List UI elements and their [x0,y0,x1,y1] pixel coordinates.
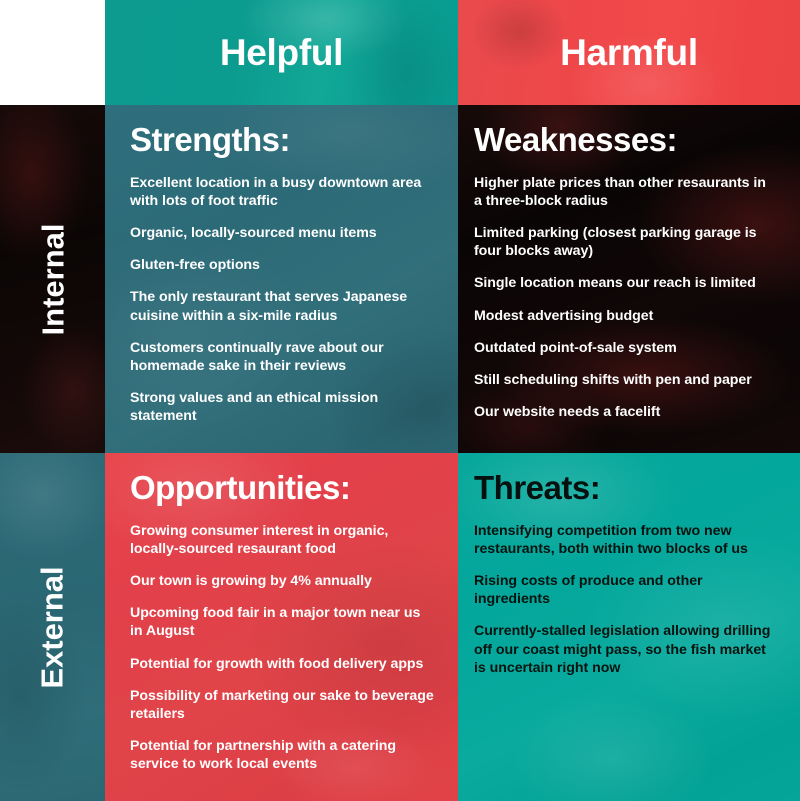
quadrant-opportunities-title: Opportunities: [130,471,440,506]
row-header-external: External [0,453,105,801]
list-item: Growing consumer interest in organic, lo… [130,522,435,558]
list-item: Gluten-free options [130,256,435,274]
row-header-internal: Internal [0,105,105,453]
list-item: Customers continually rave about our hom… [130,339,435,375]
quadrant-strengths-list: Excellent location in a busy downtown ar… [130,174,440,426]
column-header-harmful-label: Harmful [560,34,698,71]
list-item: Modest advertising budget [474,307,774,325]
column-header-helpful: Helpful [105,0,458,105]
list-item: Limited parking (closest parking garage … [474,224,774,260]
quadrant-weaknesses-title: Weaknesses: [474,123,782,158]
list-item: Potential for partnership with a caterin… [130,737,435,773]
list-item: Our town is growing by 4% annually [130,572,435,590]
list-item: Upcoming food fair in a major town near … [130,604,435,640]
list-item: Intensifying competition from two new re… [474,522,774,558]
column-header-helpful-label: Helpful [220,34,343,71]
list-item: Currently-stalled legislation allowing d… [474,622,774,677]
quadrant-weaknesses: Weaknesses: Higher plate prices than oth… [458,105,800,453]
quadrant-opportunities-list: Growing consumer interest in organic, lo… [130,522,440,774]
quadrant-strengths: Strengths: Excellent location in a busy … [105,105,458,453]
quadrant-opportunities: Opportunities: Growing consumer interest… [105,453,458,801]
swot-matrix: Helpful Harmful Internal Strengths: Exce… [0,0,800,801]
quadrant-threats-list: Intensifying competition from two new re… [474,522,782,677]
list-item: Outdated point-of-sale system [474,339,774,357]
list-item: Potential for growth with food delivery … [130,655,435,673]
list-item: Rising costs of produce and other ingred… [474,572,774,608]
quadrant-strengths-title: Strengths: [130,123,440,158]
list-item: Possibility of marketing our sake to bev… [130,687,435,723]
list-item: Strong values and an ethical mission sta… [130,389,435,425]
list-item: Our website needs a facelift [474,403,774,421]
quadrant-threats-title: Threats: [474,471,782,506]
list-item: Single location means our reach is limit… [474,274,774,292]
row-header-internal-label: Internal [37,223,68,335]
column-header-harmful: Harmful [458,0,800,105]
row-header-external-label: External [37,566,68,688]
list-item: Organic, locally-sourced menu items [130,224,435,242]
list-item: The only restaurant that serves Japanese… [130,288,435,324]
quadrant-threats: Threats: Intensifying competition from t… [458,453,800,801]
list-item: Excellent location in a busy downtown ar… [130,174,435,210]
list-item: Still scheduling shifts with pen and pap… [474,371,774,389]
quadrant-weaknesses-list: Higher plate prices than other resaurant… [474,174,782,422]
list-item: Higher plate prices than other resaurant… [474,174,774,210]
matrix-corner-cell [0,0,105,105]
